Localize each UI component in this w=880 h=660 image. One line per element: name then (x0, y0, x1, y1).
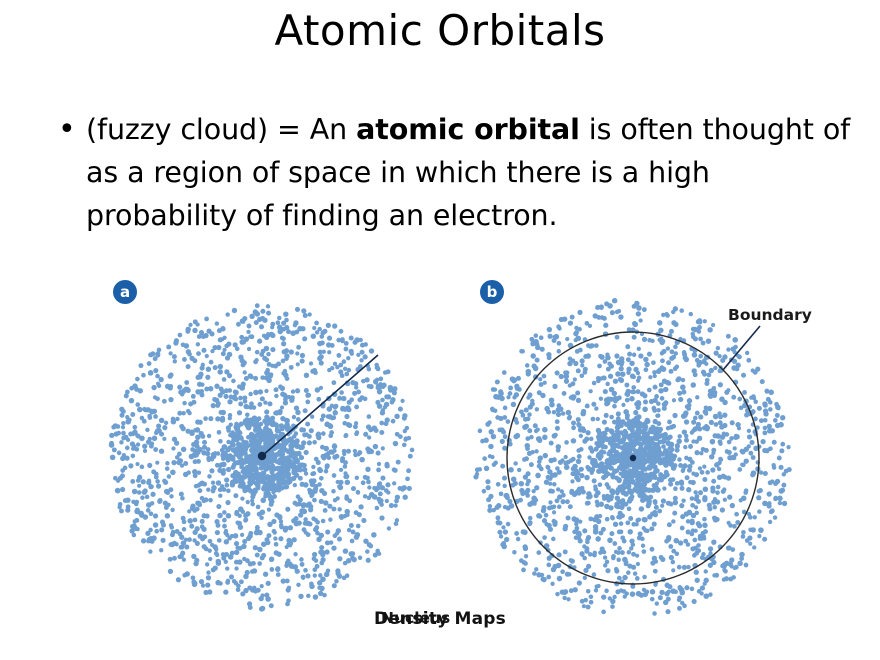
electron-probability-dot (782, 501, 787, 506)
electron-probability-dot (215, 530, 220, 535)
electron-probability-dot (741, 534, 746, 539)
electron-probability-dot (536, 427, 540, 431)
electron-probability-dot (134, 447, 139, 452)
electron-probability-dot (535, 473, 541, 479)
electron-probability-dot (324, 469, 329, 474)
electron-probability-dot (619, 366, 624, 371)
electron-probability-dot (526, 369, 532, 375)
electron-probability-dot (296, 417, 301, 422)
electron-probability-dot (263, 428, 268, 433)
electron-probability-dot (272, 494, 277, 499)
electron-probability-dot (500, 464, 505, 469)
electron-probability-dot (734, 512, 739, 517)
electron-probability-dot (667, 522, 672, 527)
electron-probability-dot (159, 418, 165, 424)
electron-probability-dot (137, 490, 142, 495)
electron-probability-dot (486, 485, 491, 490)
electron-probability-dot (679, 590, 685, 596)
electron-probability-dot (326, 342, 331, 347)
electron-probability-dot (560, 489, 564, 493)
electron-probability-dot (778, 422, 784, 428)
electron-probability-dot (673, 590, 678, 595)
electron-probability-dot (503, 434, 508, 439)
electron-probability-dot (582, 528, 587, 533)
electron-probability-dot (270, 434, 276, 440)
electron-probability-dot (384, 394, 389, 399)
electron-probability-dot (343, 367, 347, 371)
electron-probability-dot (711, 500, 716, 505)
electron-probability-dot (209, 360, 214, 365)
electron-probability-dot (245, 412, 250, 417)
electron-probability-dot (679, 308, 684, 313)
electron-probability-dot (762, 430, 767, 435)
electron-probability-dot (648, 499, 652, 503)
electron-probability-dot (599, 437, 604, 442)
electron-probability-dot (215, 321, 219, 325)
electron-probability-dot (661, 349, 666, 354)
electron-probability-dot (643, 431, 648, 436)
electron-probability-dot (149, 444, 154, 449)
electron-probability-dot (112, 447, 117, 452)
electron-probability-dot (292, 456, 298, 462)
electron-probability-dot (709, 420, 714, 425)
electron-probability-dot (254, 320, 259, 325)
electron-probability-dot (111, 425, 116, 430)
electron-probability-dot (487, 508, 492, 513)
electron-probability-dot (191, 554, 196, 559)
electron-probability-dot (704, 569, 708, 573)
electron-probability-dot (221, 351, 226, 356)
electron-probability-dot (268, 486, 272, 490)
electron-probability-dot (680, 384, 686, 390)
electron-probability-dot (246, 500, 250, 504)
electron-probability-dot (636, 389, 641, 394)
electron-probability-dot (271, 519, 276, 524)
electron-probability-dot (365, 476, 370, 481)
electron-probability-dot (493, 388, 497, 392)
electron-probability-dot (233, 390, 238, 395)
electron-probability-dot (578, 538, 583, 543)
electron-probability-dot (708, 546, 713, 551)
electron-probability-dot (642, 393, 647, 398)
electron-probability-dot (750, 440, 755, 445)
electron-probability-dot (147, 463, 152, 468)
electron-probability-dot (711, 387, 715, 391)
electron-probability-dot (694, 450, 699, 455)
electron-probability-dot (650, 597, 655, 602)
electron-probability-dot (606, 396, 611, 401)
bullet-text: (fuzzy cloud) = An atomic orbital is oft… (86, 108, 852, 237)
bullet-text-segment-plain-lead: (fuzzy cloud) = An (86, 113, 356, 146)
electron-probability-dot (249, 433, 255, 439)
electron-probability-dot (376, 385, 381, 390)
electron-probability-dot (277, 329, 283, 335)
electron-probability-dot (207, 434, 211, 438)
list-item: • (fuzzy cloud) = An atomic orbital is o… (52, 108, 852, 237)
electron-probability-dot (605, 568, 610, 573)
electron-probability-dot (378, 481, 383, 486)
electron-probability-dot (360, 395, 365, 400)
electron-probability-dot (546, 410, 551, 415)
electron-probability-dot (155, 396, 160, 401)
electron-probability-dot (281, 359, 286, 364)
electron-probability-dot (314, 321, 319, 326)
electron-probability-dot (677, 565, 682, 570)
electron-probability-dot (706, 373, 711, 378)
electron-probability-dot (402, 443, 407, 448)
electron-probability-dot (730, 564, 734, 568)
electron-probability-dot (286, 587, 291, 592)
electron-probability-dot (618, 499, 623, 504)
electron-probability-dot (241, 362, 246, 367)
electron-probability-dot (619, 521, 624, 526)
electron-probability-dot (757, 489, 762, 494)
electron-probability-dot (221, 555, 226, 560)
electron-probability-dot (259, 324, 264, 329)
electron-probability-dot (598, 456, 603, 461)
electron-probability-dot (297, 326, 303, 332)
electron-probability-dot (604, 436, 610, 442)
electron-probability-dot (490, 455, 494, 459)
electron-probability-dot (672, 321, 676, 325)
electron-probability-dot (256, 479, 261, 484)
electron-probability-dot (571, 438, 577, 444)
electron-probability-dot (305, 400, 310, 405)
electron-probability-dot (358, 504, 363, 509)
electron-probability-dot (222, 444, 228, 450)
electron-probability-dot (706, 338, 712, 344)
electron-probability-dot (182, 527, 187, 532)
electron-probability-dot (647, 388, 652, 393)
electron-probability-dot (228, 554, 234, 560)
electron-probability-dot (684, 419, 689, 424)
electron-probability-dot (722, 487, 726, 491)
electron-probability-dot (234, 510, 239, 515)
electron-probability-dot (523, 561, 528, 566)
electron-probability-dot (661, 339, 666, 344)
electron-probability-dot (266, 378, 271, 383)
electron-probability-dot (265, 415, 270, 420)
electron-probability-dot (195, 541, 200, 546)
electron-probability-dot (651, 360, 656, 365)
electron-probability-dot (745, 538, 750, 543)
electron-probability-dot (311, 516, 316, 521)
electron-probability-dot (356, 353, 360, 357)
electron-probability-dot (234, 397, 239, 402)
electron-probability-dot (304, 471, 308, 475)
electron-probability-dot (172, 541, 177, 546)
electron-probability-dot (166, 491, 170, 495)
electron-probability-dot (197, 471, 201, 475)
electron-probability-dot (508, 467, 514, 473)
electron-probability-dot (203, 497, 208, 502)
electron-probability-dot (639, 318, 643, 322)
electron-probability-dot (300, 353, 305, 358)
electron-probability-dot (567, 416, 572, 421)
electron-probability-dot (612, 595, 616, 599)
electron-probability-dot (583, 598, 588, 603)
electron-probability-dot (374, 363, 378, 367)
electron-probability-dot (257, 402, 262, 407)
electron-probability-dot (511, 402, 516, 407)
electron-probability-dot (290, 439, 295, 444)
electron-probability-dot (264, 357, 269, 362)
electron-probability-dot (691, 420, 696, 425)
electron-probability-dot (259, 516, 263, 520)
electron-probability-dot (383, 370, 388, 375)
electron-probability-dot (194, 439, 199, 444)
electron-probability-dot (731, 365, 737, 371)
electron-probability-dot (335, 365, 339, 369)
electron-probability-dot (529, 462, 534, 467)
electron-probability-dot (496, 482, 501, 487)
electron-probability-dot (616, 550, 620, 554)
electron-probability-dot (309, 582, 314, 587)
electron-probability-dot (490, 407, 495, 412)
electron-probability-dot (148, 415, 153, 420)
electron-probability-dot (766, 397, 771, 402)
electron-probability-dot (253, 417, 258, 422)
electron-probability-dot (527, 394, 532, 399)
electron-probability-dot (234, 437, 239, 442)
electron-probability-dot (633, 449, 638, 454)
electron-probability-dot (210, 457, 214, 461)
electron-probability-dot (640, 456, 645, 461)
electron-probability-dot (704, 578, 709, 583)
electron-probability-dot (249, 314, 254, 319)
electron-probability-dot (265, 371, 269, 375)
electron-probability-dot (325, 465, 329, 469)
electron-probability-dot (756, 495, 761, 500)
electron-probability-dot (243, 517, 248, 522)
electron-probability-dot (749, 395, 753, 399)
electron-probability-dot (161, 538, 166, 543)
electron-probability-dot (695, 411, 700, 416)
electron-probability-dot (574, 330, 579, 335)
electron-probability-dot (312, 552, 317, 557)
electron-probability-dot (596, 519, 601, 524)
electron-probability-dot (668, 446, 672, 450)
electron-probability-dot (626, 357, 631, 362)
nucleus-dot (630, 455, 636, 461)
electron-probability-dot (352, 391, 357, 396)
electron-probability-dot (128, 463, 133, 468)
electron-probability-dot (303, 568, 308, 573)
electron-probability-dot (580, 363, 584, 367)
electron-probability-dot (566, 597, 570, 601)
electron-probability-dot (135, 402, 140, 407)
electron-probability-dot (240, 591, 245, 596)
electron-probability-dot (232, 308, 237, 313)
electron-probability-dot (214, 547, 219, 552)
electron-probability-dot (281, 341, 286, 346)
electron-probability-dot (268, 497, 273, 502)
electron-probability-dot (230, 442, 236, 448)
electron-probability-dot (638, 446, 643, 451)
electron-probability-dot (269, 466, 275, 472)
electron-probability-dot (302, 527, 307, 532)
electron-probability-dot (657, 320, 663, 326)
electron-probability-dot (154, 529, 159, 534)
electron-probability-dot (625, 344, 630, 349)
electron-probability-dot (183, 461, 188, 466)
electron-probability-dot (675, 377, 680, 382)
electron-probability-dot (145, 531, 150, 536)
electron-probability-dot (252, 488, 257, 493)
electron-probability-dot (499, 492, 504, 497)
electron-probability-dot (318, 350, 323, 355)
electron-probability-dot (296, 362, 300, 366)
electron-probability-dot (729, 436, 734, 441)
electron-probability-dot (233, 493, 238, 498)
electron-probability-dot (208, 498, 213, 503)
electron-probability-dot (514, 392, 519, 397)
electron-probability-dot (236, 442, 242, 448)
electron-probability-dot (691, 382, 697, 388)
electron-probability-dot (264, 537, 269, 542)
electron-probability-dot (687, 510, 693, 516)
electron-probability-dot (311, 471, 316, 476)
electron-probability-dot (679, 503, 684, 508)
electron-probability-dot (594, 446, 599, 451)
electron-probability-dot (620, 360, 625, 365)
electron-probability-dot (134, 518, 139, 523)
electron-probability-dot (227, 388, 232, 393)
electron-probability-dot (110, 455, 116, 461)
electron-probability-dot (575, 336, 579, 340)
electron-probability-dot (138, 388, 143, 393)
electron-probability-dot (695, 395, 699, 399)
electron-probability-dot (659, 590, 664, 595)
electron-probability-dot (571, 425, 576, 430)
electron-probability-dot (176, 577, 181, 582)
electron-probability-dot (168, 557, 173, 562)
electron-probability-dot (580, 358, 585, 363)
electron-probability-dot (491, 434, 496, 439)
electron-probability-dot (614, 353, 619, 358)
electron-probability-dot (541, 577, 546, 582)
electron-probability-dot (163, 480, 168, 485)
electron-probability-dot (485, 479, 490, 484)
electron-probability-dot (539, 467, 544, 472)
electron-probability-dot (293, 552, 297, 556)
electron-probability-dot (228, 413, 232, 417)
electron-probability-dot (243, 468, 248, 473)
electron-probability-dot (291, 389, 295, 393)
electron-probability-dot (235, 546, 239, 550)
electron-probability-dot (349, 336, 354, 341)
electron-probability-dot (601, 527, 606, 532)
electron-probability-dot (599, 376, 603, 380)
electron-probability-dot (285, 507, 290, 512)
electron-probability-dot (686, 487, 691, 492)
electron-probability-dot (662, 486, 666, 490)
electron-probability-dot (313, 594, 318, 599)
electron-probability-dot (555, 370, 560, 375)
electron-probability-dot (404, 436, 409, 441)
electron-probability-dot (703, 409, 708, 414)
electron-probability-dot (616, 430, 621, 435)
electron-probability-dot (744, 563, 749, 568)
electron-probability-dot (346, 449, 351, 454)
electron-probability-dot (284, 448, 289, 453)
electron-probability-dot (574, 326, 578, 330)
electron-probability-dot (648, 375, 652, 379)
electron-probability-dot (666, 381, 671, 386)
electron-probability-dot (598, 482, 603, 487)
electron-probability-dot (307, 501, 312, 506)
electron-probability-dot (515, 420, 520, 425)
electron-probability-dot (647, 514, 652, 519)
electron-probability-dot (739, 556, 744, 561)
electron-probability-dot (694, 505, 698, 509)
electron-probability-dot (350, 352, 354, 356)
electron-probability-dot (616, 411, 621, 416)
electron-probability-dot (615, 335, 620, 340)
electron-probability-dot (343, 475, 347, 479)
electron-probability-dot (159, 548, 163, 552)
electron-probability-dot (610, 443, 616, 449)
electron-probability-dot (702, 523, 707, 528)
electron-probability-dot (583, 576, 587, 580)
electron-probability-dot (184, 380, 189, 385)
electron-probability-dot (672, 511, 677, 516)
electron-probability-dot (512, 550, 516, 554)
electron-probability-dot (478, 429, 483, 434)
electron-probability-dot (353, 424, 358, 429)
electron-probability-dot (270, 325, 274, 329)
electron-probability-dot (326, 414, 331, 419)
electron-probability-dot (577, 423, 582, 428)
electron-probability-dot (654, 468, 659, 473)
electron-probability-dot (757, 509, 761, 513)
electron-probability-dot (610, 310, 615, 315)
electron-probability-dot (660, 358, 665, 363)
electron-probability-dot (372, 494, 378, 500)
electron-probability-dot (153, 447, 158, 452)
page-title: Atomic Orbitals (0, 8, 880, 54)
electron-probability-dot (593, 484, 597, 488)
electron-probability-dot (524, 554, 528, 558)
electron-probability-dot (566, 515, 571, 520)
electron-probability-dot (763, 403, 768, 408)
electron-probability-dot (604, 413, 609, 418)
electron-probability-dot (711, 323, 715, 327)
electron-probability-dot (668, 460, 674, 466)
electron-probability-dot (530, 401, 535, 406)
electron-probability-dot (582, 604, 586, 608)
electron-probability-dot (726, 388, 730, 392)
electron-probability-dot (295, 502, 299, 506)
electron-probability-dot (344, 347, 349, 352)
electron-probability-dot (155, 461, 159, 465)
electron-probability-dot (547, 327, 552, 332)
electron-probability-dot (252, 405, 257, 410)
callout-leader-line-nucleus (262, 355, 378, 456)
electron-probability-dot (363, 354, 368, 359)
electron-probability-dot (226, 312, 230, 316)
electron-probability-dot (542, 427, 548, 433)
electron-probability-dot (311, 465, 315, 469)
electron-probability-dot (302, 463, 307, 468)
electron-probability-dot (619, 529, 624, 534)
electron-probability-dot (561, 411, 565, 415)
electron-probability-dot (628, 516, 633, 521)
electron-probability-dot (286, 329, 291, 334)
electron-probability-dot (137, 484, 141, 488)
electron-probability-dot (690, 496, 695, 501)
electron-probability-dot (630, 591, 636, 597)
